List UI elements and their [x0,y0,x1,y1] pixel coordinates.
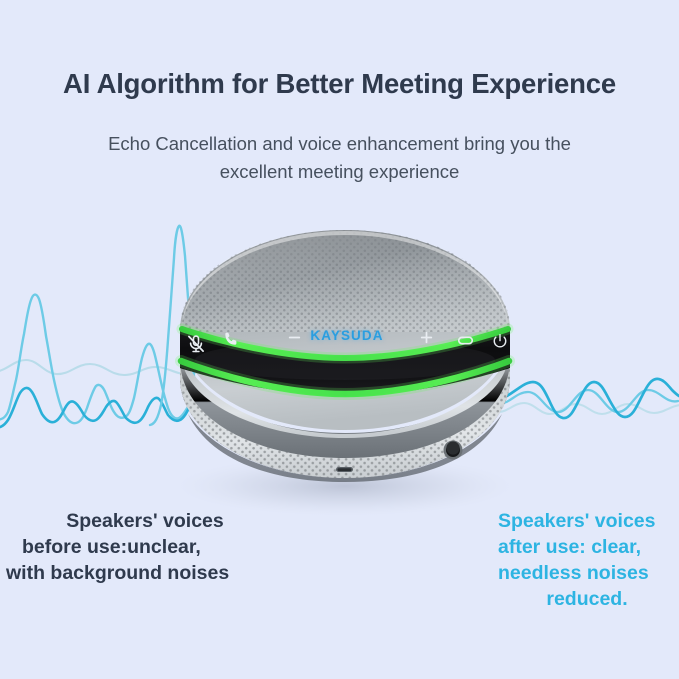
caption-before-line-1: Speakers' voices [6,509,284,535]
wave-right-primary [498,379,679,418]
caption-before-line-3: with background noises [6,561,284,587]
caption-after-use: Speakers' voices after use: clear, needl… [498,509,676,613]
page-title: AI Algorithm for Better Meeting Experien… [0,68,679,100]
caption-before-use: Speakers' voices before use:unclear, wit… [6,509,284,587]
audio-jack-port [444,441,463,460]
caption-after-line-4: reduced. [498,587,676,613]
caption-after-line-2: after use: clear, [498,536,641,558]
page-subtitle: Echo Cancellation and voice enhancement … [60,130,619,186]
page-subtitle-line-2: excellent meeting experience [60,158,619,186]
caption-after-line-3: needless noises [498,562,649,584]
screw-right [500,404,504,408]
caption-after-line-1: Speakers' voices [498,510,656,532]
wave-right-faint [498,403,679,414]
conference-speakerphone-device: KAYSUDA [174,228,516,518]
page-subtitle-line-1: Echo Cancellation and voice enhancement … [60,130,619,158]
usb-c-port [336,467,353,472]
wave-right-secondary [498,390,678,412]
product-marketing-image: AI Algorithm for Better Meeting Experien… [0,0,679,679]
caption-before-line-2: before use:unclear, [6,535,284,561]
screw-left [186,404,190,408]
